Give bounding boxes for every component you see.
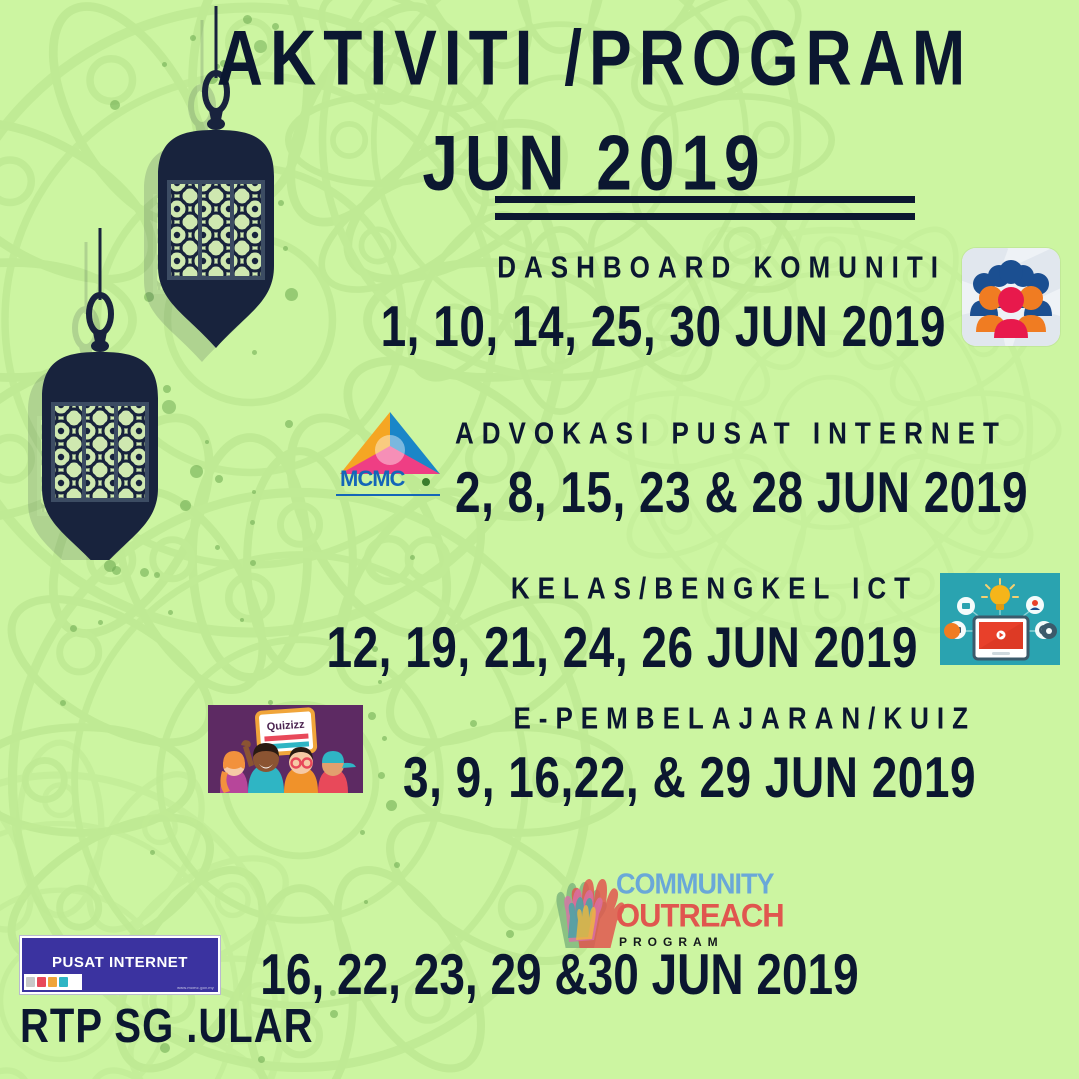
activity-text-advokasi-pusat-internet: ADVOKASI PUSAT INTERNET 2, 8, 15, 23 & 2… (455, 415, 965, 512)
plate-title: PUSAT INTERNET (22, 954, 218, 971)
pusat-internet-plate: PUSAT INTERNET www.mcmc.gov.my (20, 936, 220, 994)
ict-workshop-icon (940, 573, 1060, 665)
plate-url: www.mcmc.gov.my (177, 985, 214, 990)
community-group-icon (962, 248, 1060, 346)
activity-row-advokasi-pusat-internet: ADVOKASI PUSAT INTERNET 2, 8, 15, 23 & 2… (455, 415, 965, 512)
community-outreach-wordmark: COMMUNITY OUTREACH PROGRAM (616, 870, 784, 949)
activity-name: KELAS/BENGKEL ICT (327, 570, 919, 607)
activity-row-kelas-bengkel-ict: KELAS/BENGKEL ICT 12, 19, 21, 24, 26 JUN… (380, 570, 1060, 667)
activity-name: ADVOKASI PUSAT INTERNET (455, 415, 965, 452)
activity-row-e-pembelajaran-kuiz: Quizizz (208, 700, 928, 797)
plate-agency-badges (24, 974, 82, 990)
activity-dates: 3, 9, 16,22, & 29 JUN 2019 (403, 743, 976, 811)
cop-line-2: OUTREACH (616, 899, 784, 932)
pusat-internet-footer: PUSAT INTERNET www.mcmc.gov.my RTP SG .U… (20, 936, 314, 1045)
cop-line-1: COMMUNITY (616, 870, 784, 899)
site-label: RTP SG .ULAR (20, 1000, 314, 1054)
activity-name: E-PEMBELAJARAN/KUIZ (403, 700, 976, 737)
title-underline-rules (495, 196, 915, 220)
title-rule-bottom (495, 213, 915, 220)
activity-text-kelas-bengkel-ict: KELAS/BENGKEL ICT 12, 19, 21, 24, 26 JUN… (327, 570, 919, 667)
poster-title: AKTIVITI /PROGRAM JUN 2019 (0, 16, 1079, 190)
activity-text-e-pembelajaran-kuiz: E-PEMBELAJARAN/KUIZ 3, 9, 16,22, & 29 JU… (403, 700, 976, 797)
multicolor-hands-icon (548, 864, 624, 948)
mcmc-logo-icon: MCMC (336, 410, 444, 498)
activity-dates: 2, 8, 15, 23 & 28 JUN 2019 (455, 458, 965, 526)
poster-canvas: AKTIVITI /PROGRAM JUN 2019 DASHBOARD KOM… (0, 0, 1079, 1079)
activity-name: DASHBOARD KOMUNITI (381, 249, 946, 286)
title-rule-top (495, 196, 915, 203)
activity-text-dashboard-komuniti: DASHBOARD KOMUNITI 1, 10, 14, 25, 30 JUN… (381, 249, 946, 346)
quizizz-icon: Quizizz (208, 705, 363, 793)
title-line-2: JUN 2019 (0, 121, 1079, 205)
activity-row-dashboard-komuniti: DASHBOARD KOMUNITI 1, 10, 14, 25, 30 JUN… (460, 248, 1060, 346)
mcmc-dot-icon (422, 478, 430, 486)
activity-dates: 12, 19, 21, 24, 26 JUN 2019 (327, 613, 919, 681)
mcmc-underline (336, 494, 440, 496)
title-line-1: AKTIVITI /PROGRAM (0, 16, 1079, 100)
mcmc-wordmark: MCMC (340, 466, 404, 492)
activity-dates: 1, 10, 14, 25, 30 JUN 2019 (381, 292, 946, 360)
